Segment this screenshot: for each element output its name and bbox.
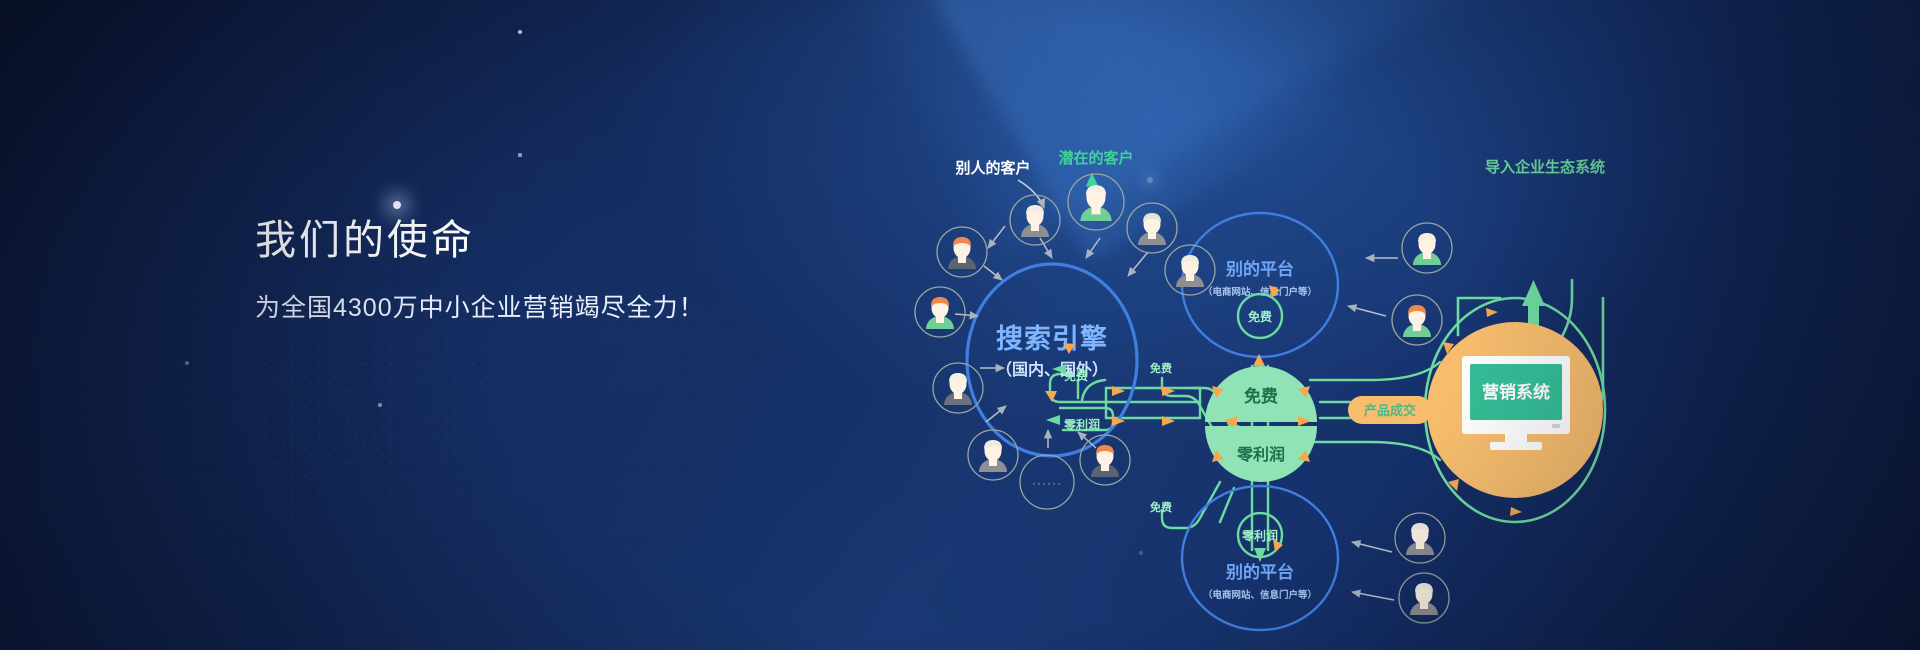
- avatar: [1010, 195, 1060, 245]
- label-potential-customers: 潜在的客户: [1058, 149, 1133, 167]
- hub-top-label: 免费: [1244, 386, 1278, 406]
- avatar: [933, 363, 983, 413]
- platform-bottom-title: 别的平台: [1225, 562, 1294, 582]
- label-others-customers: 别人的客户: [954, 159, 1030, 177]
- sparkle-dot: [378, 403, 382, 407]
- platform-top-title: 别的平台: [1225, 259, 1294, 279]
- avatar: [1399, 573, 1449, 623]
- node-search-engine: [967, 264, 1137, 456]
- platform-bottom-subtitle: （电商网站、信息门户等）: [1203, 589, 1317, 601]
- mission-copy-block: 我们的使命 为全国4300万中小企业营销竭尽全力！: [255, 215, 875, 326]
- platform-top-badge: 免费: [1248, 309, 1272, 324]
- avatar: [968, 430, 1018, 480]
- page-title: 我们的使命: [255, 215, 875, 266]
- hero-banner: 我们的使命 为全国4300万中小企业营销竭尽全力！: [0, 0, 1920, 650]
- avatar: [1392, 295, 1442, 345]
- ellipsis-label: ······: [1032, 476, 1062, 490]
- sparkle-dot: [518, 153, 521, 156]
- platform-top-subtitle: （电商网站、信息门户等）: [1203, 286, 1317, 298]
- deal-pill: 产品成交: [1348, 396, 1432, 424]
- avatar: [1395, 513, 1445, 563]
- avatar: [1402, 223, 1452, 273]
- page-subtitle: 为全国4300万中小企业营销竭尽全力！: [255, 292, 875, 326]
- edge-label-free-3: 免费: [1150, 500, 1172, 514]
- marketing-system-label: 营销系统: [1482, 382, 1550, 402]
- avatar: [1127, 203, 1177, 253]
- edge-label-zero-profit-1: 零利润: [1063, 417, 1100, 432]
- avatar: [937, 227, 987, 277]
- sparkle-dot: [185, 361, 189, 365]
- search-engine-title: 搜索引擎: [996, 323, 1108, 354]
- node-ellipsis: ······: [1020, 455, 1074, 509]
- sparkle-dot: [393, 201, 401, 209]
- platform-bottom-badge: 零利润: [1241, 528, 1278, 543]
- edge-label-free-1: 免费: [1064, 368, 1088, 383]
- avatar: [1080, 435, 1130, 485]
- sparkle-dot: [518, 30, 522, 34]
- label-import-ecosystem: 导入企业生态系统: [1485, 158, 1605, 176]
- avatar: [915, 287, 965, 337]
- marketing-ecosystem-diagram: 搜索引擎 （国内、国外） 免费 零利润 免费 免费: [900, 130, 1560, 530]
- hub-bottom-label: 零利润: [1236, 445, 1285, 464]
- deal-pill-label: 产品成交: [1364, 403, 1416, 418]
- sparkle-dot: [1139, 551, 1144, 556]
- edge-label-free-2: 免费: [1150, 361, 1172, 375]
- node-platform-top: [1182, 213, 1338, 357]
- search-engine-subtitle: （国内、国外）: [996, 360, 1108, 379]
- avatar: [1068, 174, 1124, 230]
